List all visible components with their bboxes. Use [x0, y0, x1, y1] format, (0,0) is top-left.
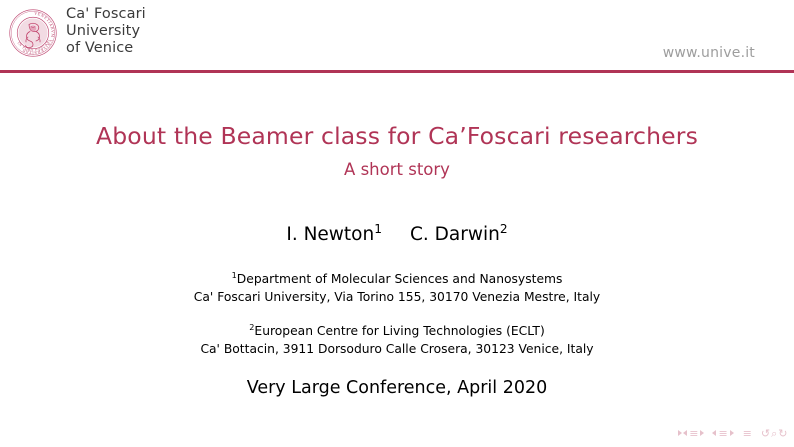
nav-group-document[interactable]: ↺ ⌕ ↻ [760, 428, 788, 439]
affiliation-name: European Centre for Living Technologies … [254, 324, 544, 338]
nav-group-slide[interactable]: ≡ [678, 428, 705, 439]
beamer-navigation-bar[interactable]: ≡ ≡ ≡ ↺ ⌕ ↻ [678, 425, 788, 441]
next-frame-icon[interactable] [730, 430, 734, 436]
wordmark-line-1: Ca' Foscari [66, 6, 146, 23]
presentation-subtitle: A short story [0, 158, 794, 182]
author-affiliation-marker: 2 [500, 222, 508, 236]
back-icon[interactable]: ↺ [761, 428, 770, 439]
wordmark-line-3: of Venice [66, 40, 146, 57]
university-wordmark: Ca' Foscari University of Venice [66, 6, 146, 58]
nav-group-frame[interactable]: ≡ [712, 428, 734, 439]
previous-slide-icon[interactable] [683, 430, 687, 436]
author-name: I. Newton [286, 224, 374, 245]
section-stack-icon[interactable]: ≡ [743, 428, 752, 439]
slide-header: VENETIARVM VNIVERSITAS IN FORO FOSCARI C… [0, 0, 794, 74]
author-affiliation-marker: 1 [374, 222, 382, 236]
wordmark-line-2: University [66, 23, 146, 40]
presentation-title: About the Beamer class for Ca’Foscari re… [0, 121, 794, 151]
forward-icon[interactable]: ↻ [778, 428, 787, 439]
conference-and-date: Very Large Conference, April 2020 [0, 376, 794, 401]
affiliation-address: Ca' Foscari University, Via Torino 155, … [0, 289, 794, 307]
author-entry: I. Newton1 [286, 224, 382, 245]
affiliation-name: Department of Molecular Sciences and Nan… [237, 272, 563, 286]
ca-foscari-seal-icon: VENETIARVM VNIVERSITAS IN FORO FOSCARI [8, 8, 58, 58]
nav-group-section[interactable]: ≡ [741, 428, 753, 439]
university-website-url: www.unive.it [663, 45, 755, 61]
header-divider-rule [0, 70, 794, 73]
previous-frame-icon[interactable] [712, 430, 716, 436]
search-icon[interactable]: ⌕ [771, 428, 777, 439]
affiliation-name-line: 1Department of Molecular Sciences and Na… [0, 271, 794, 289]
affiliation-block: 1Department of Molecular Sciences and Na… [0, 271, 794, 306]
author-name: C. Darwin [410, 224, 500, 245]
affiliation-name-line: 2European Centre for Living Technologies… [0, 323, 794, 341]
first-slide-icon[interactable] [678, 430, 682, 436]
author-entry: C. Darwin2 [410, 224, 508, 245]
university-brand: VENETIARVM VNIVERSITAS IN FORO FOSCARI C… [8, 6, 146, 58]
affiliation-list: 1Department of Molecular Sciences and Na… [0, 271, 794, 358]
titlepage-body: About the Beamer class for Ca’Foscari re… [0, 74, 794, 447]
affiliation-address: Ca' Bottacin, 3911 Dorsoduro Calle Crose… [0, 341, 794, 359]
slide-stack-icon[interactable]: ≡ [689, 428, 698, 439]
author-list: I. Newton1C. Darwin2 [0, 222, 794, 248]
affiliation-block: 2European Centre for Living Technologies… [0, 323, 794, 358]
next-slide-icon[interactable] [700, 430, 704, 436]
frame-stack-icon[interactable]: ≡ [718, 428, 727, 439]
